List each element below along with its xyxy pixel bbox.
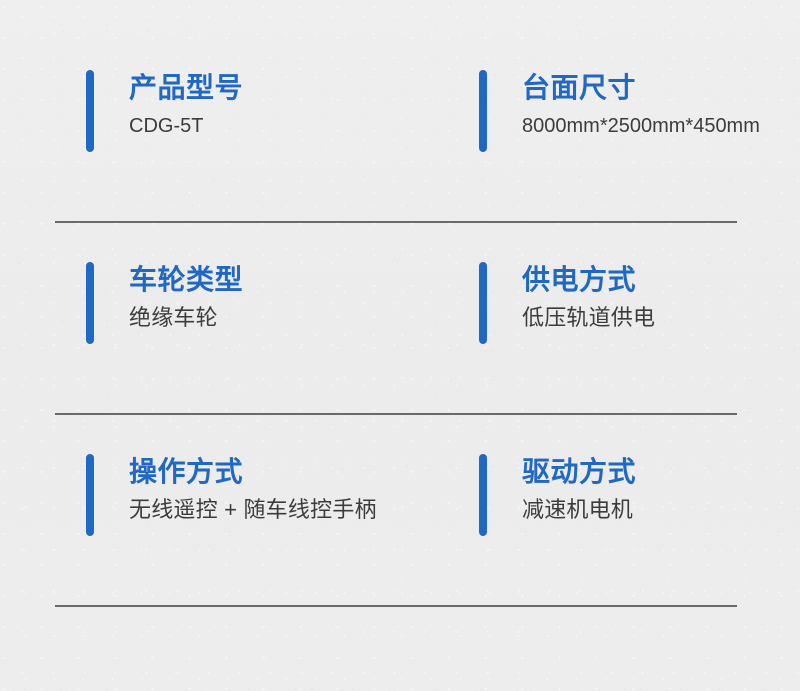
spec-item-text: 驱动方式 减速机电机 [522, 452, 636, 528]
spec-value: 8000mm*2500mm*450mm [522, 108, 760, 144]
spec-item-table-size: 台面尺寸 8000mm*2500mm*450mm [479, 68, 794, 152]
accent-bar-icon [479, 454, 487, 536]
row-divider [55, 605, 737, 607]
spec-item-text: 供电方式 低压轨道供电 [522, 260, 655, 336]
spec-label: 驱动方式 [522, 452, 636, 492]
accent-bar-icon [86, 262, 94, 344]
spec-label: 供电方式 [522, 260, 655, 300]
spec-item-power-supply: 供电方式 低压轨道供电 [479, 260, 794, 344]
spec-label: 车轮类型 [129, 260, 243, 300]
spec-item-text: 台面尺寸 8000mm*2500mm*450mm [522, 68, 760, 144]
spec-value: 减速机电机 [522, 492, 636, 528]
spec-label: 产品型号 [129, 68, 243, 108]
spec-label: 台面尺寸 [522, 68, 760, 108]
spec-item-text: 车轮类型 绝缘车轮 [129, 260, 243, 336]
spec-item-text: 操作方式 无线遥控 + 随车线控手柄 [129, 452, 377, 528]
spec-value: 低压轨道供电 [522, 300, 655, 336]
spec-label: 操作方式 [129, 452, 377, 492]
spec-value: 绝缘车轮 [129, 300, 243, 336]
accent-bar-icon [86, 70, 94, 152]
spec-sheet: 产品型号 CDG-5T 台面尺寸 8000mm*2500mm*450mm 车轮类… [0, 0, 800, 691]
spec-value: CDG-5T [129, 108, 243, 144]
spec-grid: 产品型号 CDG-5T 台面尺寸 8000mm*2500mm*450mm 车轮类… [0, 0, 800, 691]
accent-bar-icon [479, 262, 487, 344]
accent-bar-icon [86, 454, 94, 536]
spec-item-wheel-type: 车轮类型 绝缘车轮 [86, 260, 466, 344]
spec-item-product-model: 产品型号 CDG-5T [86, 68, 466, 152]
accent-bar-icon [479, 70, 487, 152]
spec-item-drive-mode: 驱动方式 减速机电机 [479, 452, 794, 536]
spec-item-operation-mode: 操作方式 无线遥控 + 随车线控手柄 [86, 452, 466, 536]
spec-value: 无线遥控 + 随车线控手柄 [129, 492, 377, 528]
spec-row: 产品型号 CDG-5T 台面尺寸 8000mm*2500mm*450mm [0, 30, 800, 222]
row-divider [55, 221, 737, 223]
spec-row: 操作方式 无线遥控 + 随车线控手柄 驱动方式 减速机电机 [0, 414, 800, 606]
spec-item-text: 产品型号 CDG-5T [129, 68, 243, 144]
spec-row: 车轮类型 绝缘车轮 供电方式 低压轨道供电 [0, 222, 800, 414]
row-divider [55, 413, 737, 415]
